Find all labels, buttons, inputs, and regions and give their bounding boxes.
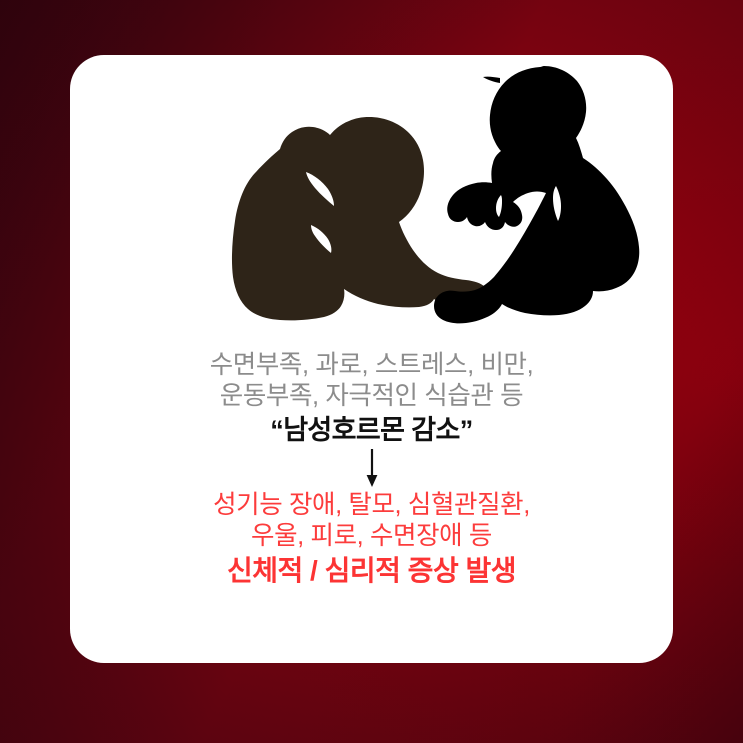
effect-line-1: 성기능 장애, 탈모, 심혈관질환, [70,490,673,521]
effect-line-2: 우울, 피로, 수면장애 등 [70,521,673,552]
figure-left-head-down [232,117,488,320]
content-card: 수면부족, 과로, 스트레스, 비만, 운동부족, 자극적인 식습관 등 “남성… [70,55,673,663]
cause-line-2: 운동부족, 자극적인 식습관 등 [70,381,673,412]
effect-headline: 신체적 / 심리적 증상 발생 [70,554,673,588]
causes-block: 수면부족, 과로, 스트레스, 비만, 운동부족, 자극적인 식습관 등 “남성… [70,350,673,446]
silhouette-illustration [70,55,673,355]
effects-block: 성기능 장애, 탈모, 심혈관질환, 우울, 피로, 수면장애 등 신체적 / … [70,490,673,588]
cause-line-1: 수면부족, 과로, 스트레스, 비만, [70,350,673,381]
infographic-canvas: 수면부족, 과로, 스트레스, 비만, 운동부족, 자극적인 식습관 등 “남성… [0,0,743,743]
down-arrow-icon [70,446,673,490]
cause-headline: “남성호르몬 감소” [70,414,673,446]
text-content: 수면부족, 과로, 스트레스, 비만, 운동부족, 자극적인 식습관 등 “남성… [70,350,673,588]
